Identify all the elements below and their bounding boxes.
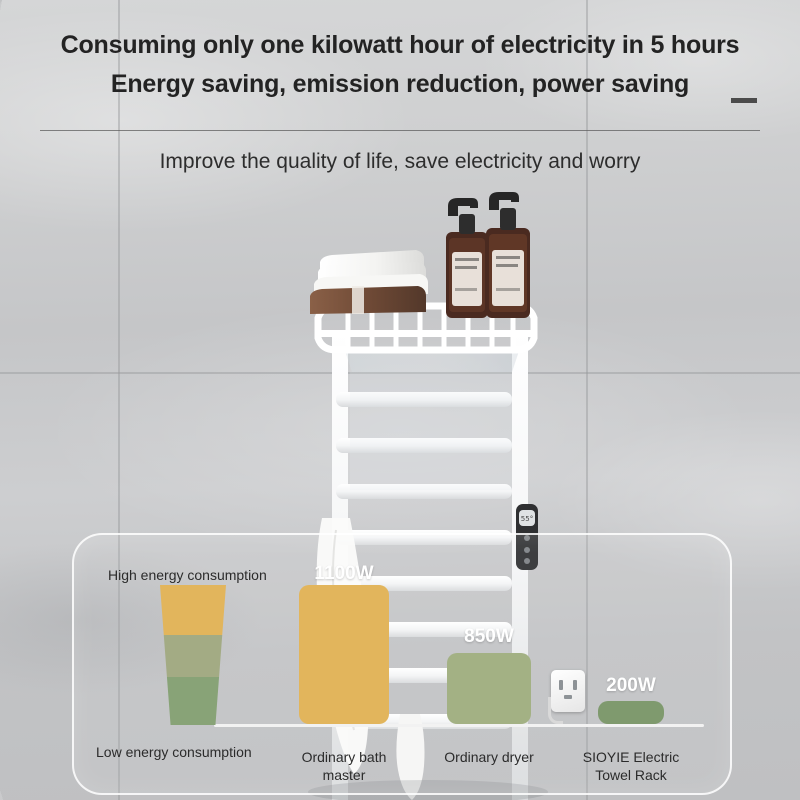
subtitle-text: Improve the quality of life, save electr… [0,150,800,174]
gauge-segment-mid [160,635,226,677]
legend-label-low: Low energy consumption [96,744,252,760]
bar-value-ordinary-dryer: 850W [447,626,531,648]
socket-slot-ground [564,695,572,699]
gauge-segment-high [160,585,226,635]
legend-label-high: High energy consumption [108,567,267,583]
headline-primary: Consuming only one kilowatt hour of elec… [0,28,800,62]
dash-decoration [731,98,757,103]
bar-category-ordinary-bath-master: Ordinary bath master [284,748,404,784]
header-divider [40,130,760,131]
bar-value-sioyie-electric-towel-rack: 200W [593,675,669,697]
energy-gauge-legend [160,585,226,725]
bar-value-ordinary-bath-master: 1100W [299,563,389,585]
bar-sioyie-electric-towel-rack [598,701,664,724]
socket-slot-right [573,680,577,690]
socket-cord [548,697,563,724]
socket-slot-left [559,680,563,690]
header-block: Consuming only one kilowatt hour of elec… [0,0,800,101]
screenshot-root: Consuming only one kilowatt hour of elec… [0,0,800,800]
headline-secondary: Energy saving, emission reduction, power… [0,67,800,101]
bar-category-ordinary-dryer: Ordinary dryer [429,748,549,766]
chart-baseline-axis [214,724,704,727]
bar-ordinary-bath-master [299,585,389,724]
svg-text:55°: 55° [521,515,533,523]
bar-ordinary-dryer [447,653,531,724]
bar-category-sioyie-electric-towel-rack: SIOYIE Electric Towel Rack [571,748,691,784]
